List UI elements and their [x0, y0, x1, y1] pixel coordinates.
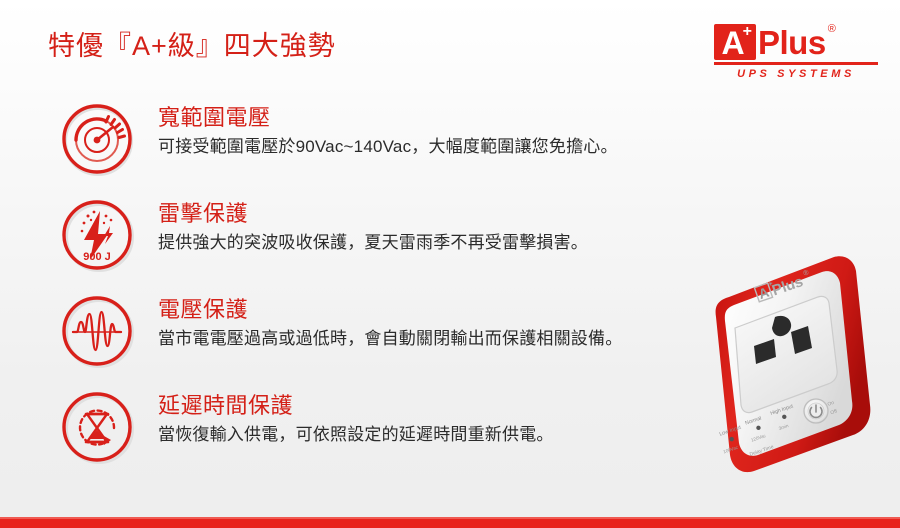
feature-text: 寬範圍電壓 可接受範圍電壓於90Vac~140Vac，大幅度範圍讓您免擔心。 — [158, 100, 618, 160]
lightning-bolt-icon: 900 J — [60, 198, 136, 274]
hourglass-timer-icon — [60, 390, 136, 466]
power-button[interactable] — [804, 399, 828, 423]
feature-text: 電壓保護 當市電電壓過高或過低時，會自動關閉輸出而保護相關設備。 — [158, 292, 622, 352]
feature-title: 雷擊保護 — [158, 200, 588, 228]
logo-plus-word: Plus — [758, 26, 826, 60]
registered-trademark-icon: ® — [828, 24, 836, 35]
feature-text: 雷擊保護 提供強大的突波吸收保護，夏天雷雨季不再受雷擊損害。 — [158, 196, 588, 256]
logo-a-letter: A — [721, 27, 744, 59]
gauge-icon — [60, 102, 136, 178]
surge-rating-label: 900 J — [83, 251, 111, 263]
feature-description: 當市電電壓過高或過低時，會自動關閉輸出而保護相關設備。 — [158, 326, 622, 352]
logo-wordmark: A + Plus ® — [714, 22, 882, 60]
footer-accent-bar — [0, 517, 900, 528]
feature-list: 寬範圍電壓 可接受範圍電壓於90Vac~140Vac，大幅度範圍讓您免擔心。 — [60, 100, 740, 484]
footer-accent-highlight — [0, 517, 900, 519]
logo-a-badge: A + — [714, 24, 756, 60]
logo-subtitle: UPS SYSTEMS — [714, 68, 878, 80]
feature-title: 延遲時間保護 — [158, 392, 554, 420]
feature-description: 當恢復輸入供電，可依照設定的延遲時間重新供電。 — [158, 422, 554, 448]
feature-title: 寬範圍電壓 — [158, 104, 618, 132]
waveform-icon — [60, 294, 136, 370]
feature-description: 提供強大的突波吸收保護，夏天雷雨季不再受雷擊損害。 — [158, 230, 588, 256]
product-image: A + Plus ® Low Input Normal High Input 1… — [682, 235, 892, 497]
feature-item: 900 J 雷擊保護 提供強大的突波吸收保護，夏天雷雨季不再受雷擊損害。 — [60, 196, 740, 292]
feature-text: 延遲時間保護 當恢復輸入供電，可依照設定的延遲時間重新供電。 — [158, 388, 554, 448]
page-title: 特優『A+級』四大強勢 — [48, 28, 336, 64]
brand-logo: A + Plus ® UPS SYSTEMS — [714, 22, 882, 80]
logo-divider — [714, 62, 878, 65]
feature-description: 可接受範圍電壓於90Vac~140Vac，大幅度範圍讓您免擔心。 — [158, 134, 618, 160]
product-feature-poster: 特優『A+級』四大強勢 A + Plus ® UPS SYSTEMS — [0, 0, 900, 528]
feature-item: 電壓保護 當市電電壓過高或過低時，會自動關閉輸出而保護相關設備。 — [60, 292, 740, 388]
logo-plus-superscript: + — [743, 25, 752, 39]
feature-item: 延遲時間保護 當恢復輸入供電，可依照設定的延遲時間重新供電。 — [60, 388, 740, 484]
feature-item: 寬範圍電壓 可接受範圍電壓於90Vac~140Vac，大幅度範圍讓您免擔心。 — [60, 100, 740, 196]
feature-title: 電壓保護 — [158, 296, 622, 324]
